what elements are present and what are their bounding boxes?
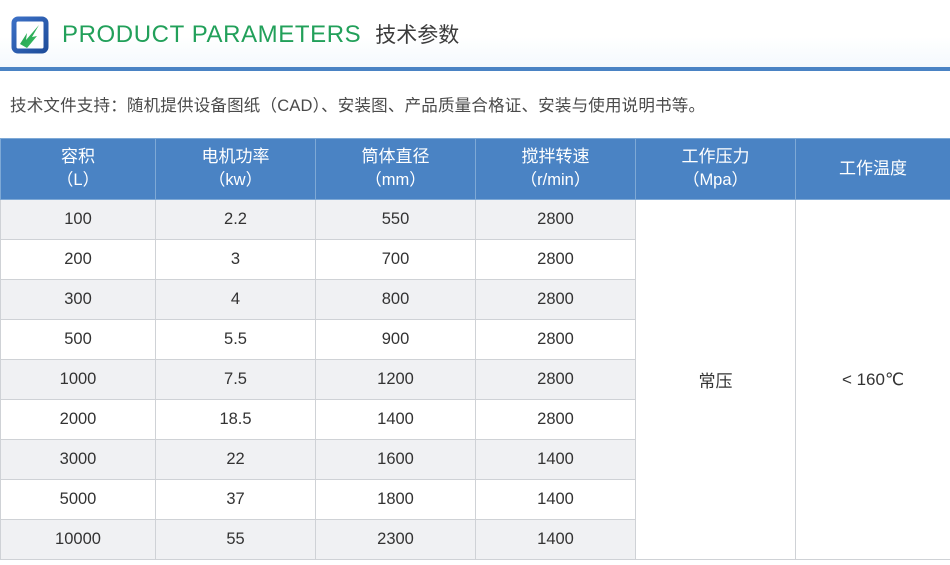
cell-diameter: 1600 bbox=[316, 440, 476, 480]
cell-speed: 1400 bbox=[476, 440, 636, 480]
product-parameters-table: 容积 （L） 电机功率 （kw） 筒体直径 （mm） 搅拌转速 （r/min） … bbox=[0, 138, 950, 560]
cell-power: 18.5 bbox=[156, 400, 316, 440]
cell-power: 4 bbox=[156, 280, 316, 320]
cell-diameter: 800 bbox=[316, 280, 476, 320]
column-header-pressure-name: 工作压力 bbox=[682, 147, 750, 166]
cell-diameter: 2300 bbox=[316, 520, 476, 560]
cell-power: 3 bbox=[156, 240, 316, 280]
cell-power: 5.5 bbox=[156, 320, 316, 360]
column-header-power-unit: （kw） bbox=[156, 169, 315, 191]
cell-volume: 200 bbox=[1, 240, 156, 280]
column-header-pressure-unit: （Mpa） bbox=[636, 169, 795, 191]
cell-volume: 500 bbox=[1, 320, 156, 360]
column-header-power-name: 电机功率 bbox=[202, 147, 270, 166]
cell-diameter: 1200 bbox=[316, 360, 476, 400]
cell-speed: 2800 bbox=[476, 280, 636, 320]
page-header: PRODUCT PARAMETERS 技术参数 bbox=[0, 0, 950, 67]
column-header-volume-name: 容积 bbox=[61, 147, 95, 166]
cell-power: 7.5 bbox=[156, 360, 316, 400]
page-title-en: PRODUCT PARAMETERS bbox=[62, 21, 361, 49]
cell-power: 55 bbox=[156, 520, 316, 560]
cell-diameter: 1800 bbox=[316, 480, 476, 520]
cell-diameter: 1400 bbox=[316, 400, 476, 440]
cell-power: 37 bbox=[156, 480, 316, 520]
table-body: 100 2.2 550 2800 常压 < 160℃ 200 3 700 280… bbox=[1, 200, 950, 560]
column-header-power: 电机功率 （kw） bbox=[156, 139, 316, 200]
cell-speed: 2800 bbox=[476, 200, 636, 240]
page-title: PRODUCT PARAMETERS 技术参数 bbox=[62, 19, 459, 49]
column-header-temperature: 工作温度 bbox=[796, 139, 950, 200]
column-header-speed-name: 搅拌转速 bbox=[522, 147, 590, 166]
cell-speed: 2800 bbox=[476, 240, 636, 280]
cell-speed: 2800 bbox=[476, 360, 636, 400]
cell-volume: 5000 bbox=[1, 480, 156, 520]
cell-speed: 2800 bbox=[476, 400, 636, 440]
cell-speed: 1400 bbox=[476, 480, 636, 520]
column-header-pressure: 工作压力 （Mpa） bbox=[636, 139, 796, 200]
cell-pressure-merged: 常压 bbox=[636, 200, 796, 560]
cell-speed: 2800 bbox=[476, 320, 636, 360]
table-row: 100 2.2 550 2800 常压 < 160℃ bbox=[1, 200, 950, 240]
cell-temperature-merged: < 160℃ bbox=[796, 200, 950, 560]
cell-diameter: 550 bbox=[316, 200, 476, 240]
cell-power: 2.2 bbox=[156, 200, 316, 240]
logo-square-zigzag-icon bbox=[10, 15, 50, 55]
cell-diameter: 700 bbox=[316, 240, 476, 280]
cell-speed: 1400 bbox=[476, 520, 636, 560]
cell-volume: 1000 bbox=[1, 360, 156, 400]
column-header-volume: 容积 （L） bbox=[1, 139, 156, 200]
column-header-speed: 搅拌转速 （r/min） bbox=[476, 139, 636, 200]
cell-volume: 300 bbox=[1, 280, 156, 320]
column-header-diameter-name: 筒体直径 bbox=[362, 147, 430, 166]
column-header-temperature-name: 工作温度 bbox=[839, 159, 907, 178]
cell-volume: 3000 bbox=[1, 440, 156, 480]
column-header-diameter: 筒体直径 （mm） bbox=[316, 139, 476, 200]
intro-description: 技术文件支持：随机提供设备图纸（CAD）、安装图、产品质量合格证、安装与使用说明… bbox=[0, 71, 950, 138]
cell-volume: 100 bbox=[1, 200, 156, 240]
cell-diameter: 900 bbox=[316, 320, 476, 360]
cell-volume: 2000 bbox=[1, 400, 156, 440]
column-header-speed-unit: （r/min） bbox=[476, 169, 635, 191]
column-header-volume-unit: （L） bbox=[1, 169, 155, 191]
column-header-diameter-unit: （mm） bbox=[316, 169, 475, 191]
cell-volume: 10000 bbox=[1, 520, 156, 560]
page-title-cn: 技术参数 bbox=[375, 19, 459, 49]
table-header-row: 容积 （L） 电机功率 （kw） 筒体直径 （mm） 搅拌转速 （r/min） … bbox=[1, 139, 950, 200]
cell-power: 22 bbox=[156, 440, 316, 480]
